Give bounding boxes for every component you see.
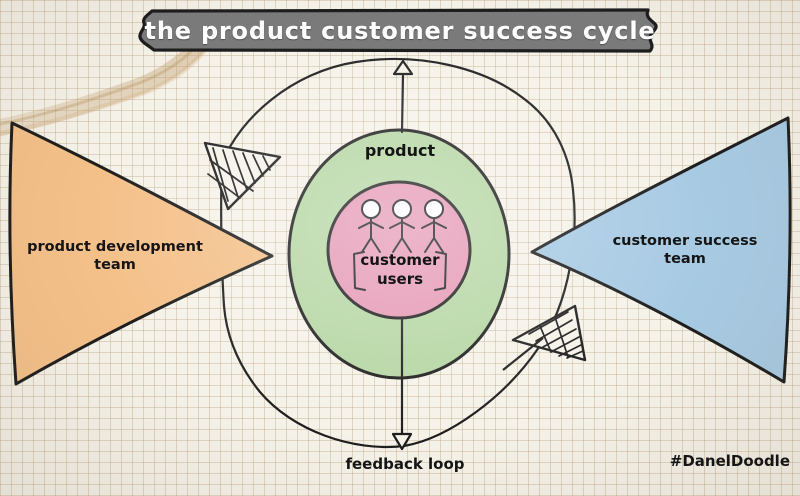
product-up-arrow — [394, 61, 412, 132]
signature-label: #DanelDoodle — [620, 452, 790, 471]
hatched-arrowhead-lower-right — [503, 306, 585, 370]
hatched-arrowhead-upper-left — [205, 143, 280, 209]
product-label: product — [330, 141, 470, 161]
customer-success-team-label: customer success team — [585, 232, 785, 268]
feedback-loop-label: feedback loop — [330, 455, 480, 474]
title-banner: the product customer success cycle — [136, 8, 664, 53]
page-title: the product customer success cycle — [136, 8, 664, 53]
product-development-team-label: product development team — [10, 238, 220, 274]
customer-users-label: customer users — [352, 251, 448, 289]
doodle-canvas: the product customer success cycle produ… — [0, 0, 800, 496]
